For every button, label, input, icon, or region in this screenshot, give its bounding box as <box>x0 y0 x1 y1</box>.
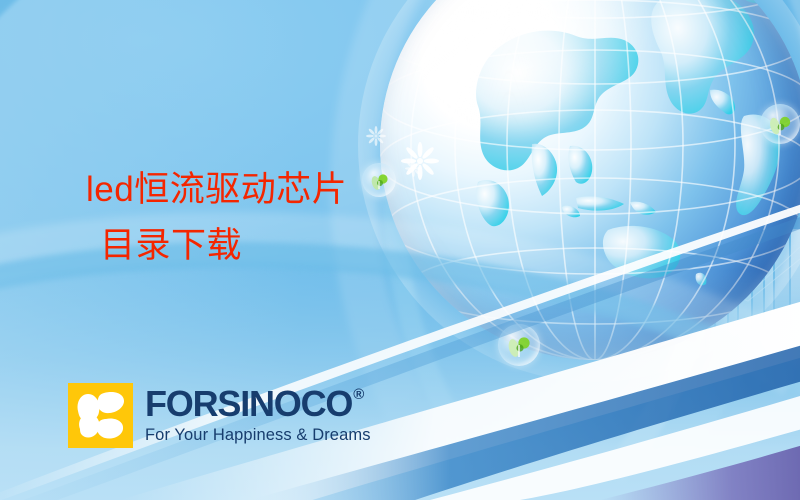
headline: led恒流驱动芯片 目录下载 <box>86 162 347 274</box>
headline-line-2: 目录下载 <box>86 218 347 274</box>
logo-wordmark-text: FORSINOCO <box>145 386 352 422</box>
logo-text-block: FORSINOCO ® For Your Happiness & Dreams <box>145 383 371 444</box>
banner-canvas: led恒流驱动芯片 目录下载 FORSINOCO ® <box>0 0 800 500</box>
registered-trademark-icon: ® <box>353 387 363 402</box>
logo-mark <box>68 383 133 448</box>
four-petal-pinwheel-icon <box>68 383 133 448</box>
company-logo[interactable]: FORSINOCO ® For Your Happiness & Dreams <box>68 383 371 448</box>
headline-line-1: led恒流驱动芯片 <box>86 162 347 218</box>
logo-wordmark: FORSINOCO ® <box>145 386 371 422</box>
logo-tagline: For Your Happiness & Dreams <box>145 427 371 444</box>
